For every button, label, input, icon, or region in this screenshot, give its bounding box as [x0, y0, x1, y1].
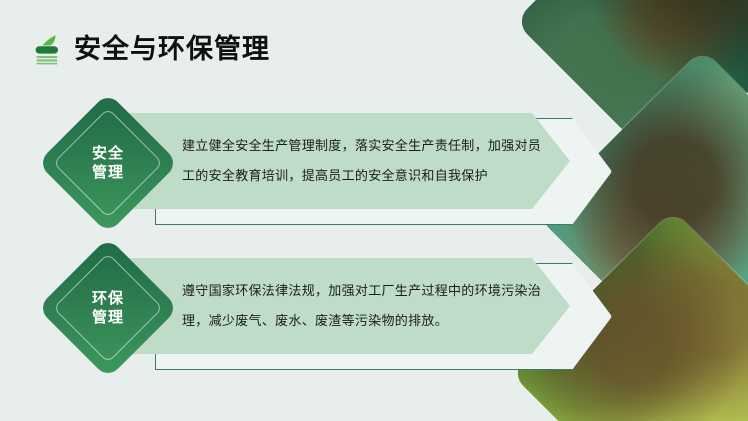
badge-environment-label: 环保 管理	[92, 289, 124, 327]
content-text-environment: 遵守国家环保法律法规，加强对工厂生产过程中的环境污染治理，减少废气、废水、废渣等…	[182, 276, 552, 336]
slide-header: 安全与环保管理	[34, 32, 270, 66]
content-text-safety: 建立健全安全生产管理制度，落实安全生产责任制，加强对员工的安全教育培训，提高员工…	[182, 131, 552, 191]
page-title: 安全与环保管理	[74, 36, 270, 63]
leaf-sprout-icon	[34, 32, 62, 66]
content-panel-environment: 遵守国家环保法律法规，加强对工厂生产过程中的环境污染治理，减少废气、废水、废渣等…	[110, 258, 570, 354]
content-panel-safety: 建立健全安全生产管理制度，落实安全生产责任制，加强对员工的安全教育培训，提高员工…	[110, 113, 570, 209]
slide-canvas: 安全与环保管理 建立健全安全生产管理制度，落实安全生产责任制，加强对员工的安全教…	[0, 0, 748, 421]
badge-safety-label: 安全 管理	[92, 144, 124, 182]
